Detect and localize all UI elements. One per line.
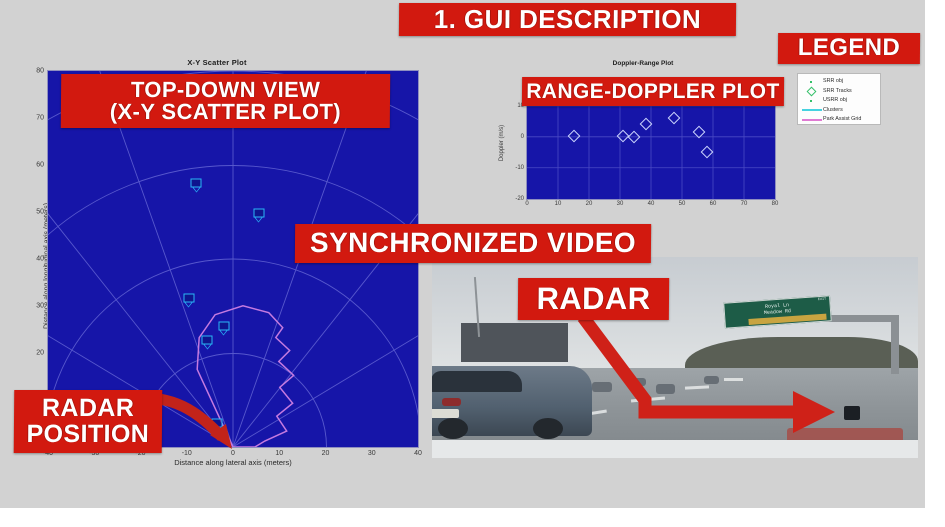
xy-xtick: 20 [322,450,330,457]
video-distant-vehicle [704,376,719,384]
radar-position-banner: RADAR POSITION [14,390,163,453]
video-lane-marking [724,378,743,381]
legend-item-label: SRR obj [823,77,843,86]
legend-item-label: SRR Tracks [823,87,852,96]
xy-ytick: 70 [36,115,44,122]
usrr-obj-dot-icon [801,96,823,105]
dr-xtick: 50 [679,201,686,207]
range-doppler-banner: RANGE-DOPPLER PLOT [522,77,784,106]
xy-ytick: 20 [36,350,44,357]
doppler-range-title: Doppler-Range Plot [497,60,789,67]
park-assist-grid-line-icon [801,115,823,124]
xy-scatter-title: X-Y Scatter Plot [8,58,426,67]
video-distant-vehicle [631,378,646,386]
legend-banner: LEGEND [778,33,920,64]
srr-obj-dot-icon [801,77,823,86]
video-sign-gantry-post [891,315,899,373]
track-marker [202,336,213,347]
doppler-range-ylabel: Doppler (m/s) [499,125,505,161]
xy-xtick: 30 [368,450,376,457]
xy-ytick: 40 [36,256,44,263]
dr-xtick: 80 [772,201,779,207]
xy-xtick: 0 [231,450,235,457]
radar-banner: RADAR [518,278,669,320]
synchronized-video-panel: EXIT Royal Ln Meadow Rd [432,257,918,458]
dr-ytick: -20 [515,196,524,202]
video-distant-vehicle [592,382,611,392]
dr-xtick: 20 [586,201,593,207]
xy-ytick: 60 [36,162,44,169]
track-marker [191,178,202,189]
clusters-line-icon [801,106,823,115]
doppler-range-axes: 10 0 -10 -20 0 10 20 30 40 50 60 70 80 [526,96,776,200]
range-doppler-banner-text: RANGE-DOPPLER PLOT [522,81,784,102]
xy-scatter-xlabel: Distance along lateral axis (meters) [47,458,419,467]
xy-xtick: 10 [275,450,283,457]
xy-ytick: 30 [36,303,44,310]
legend-item-park-assist-grid: Park Assist Grid [801,115,877,125]
legend-item-srr-tracks: SRR Tracks [801,87,877,97]
title-banner-text: 1. GUI DESCRIPTION [399,6,736,33]
legend-item-label: Park Assist Grid [823,115,861,124]
title-banner: 1. GUI DESCRIPTION [399,3,736,36]
xy-xtick: -10 [182,450,192,457]
synchronized-video-banner: SYNCHRONIZED VIDEO [295,224,651,263]
doppler-grid [527,97,775,199]
dr-ytick: 0 [521,134,524,140]
screenshot-root: X-Y Scatter Plot Distance along longitud… [0,0,945,527]
xy-ytick: 80 [36,68,44,75]
xy-ytick: 50 [36,209,44,216]
video-car-wheel [533,418,563,439]
track-marker [183,293,194,304]
video-car-window [432,371,522,392]
legend-box: SRR obj SRR Tracks USRR obj Clusters Par… [797,73,881,125]
xy-xtick: 40 [414,450,422,457]
legend-banner-text: LEGEND [778,36,920,60]
legend-item-srr-obj: SRR obj [801,77,877,87]
radar-device [844,406,860,420]
dr-xtick: 70 [741,201,748,207]
video-distant-vehicle [656,384,675,394]
legend-item-label: USRR obj [823,96,847,105]
dr-xtick: 30 [617,201,624,207]
dr-xtick: 10 [555,201,562,207]
dr-xtick: 40 [648,201,655,207]
synchronized-video-banner-text: SYNCHRONIZED VIDEO [295,229,651,258]
top-down-view-banner-text: TOP-DOWN VIEW (X-Y SCATTER PLOT) [61,79,390,124]
video-car-hood [432,440,918,458]
radar-position-banner-text: RADAR POSITION [14,396,162,447]
road-sign-exit-label: EXIT [817,298,825,303]
srr-tracks-diamond-icon [801,87,823,96]
legend-item-clusters: Clusters [801,106,877,116]
legend-item-usrr-obj: USRR obj [801,96,877,106]
dr-xtick: 0 [525,201,528,207]
dr-xtick: 60 [710,201,717,207]
video-car-plate [432,409,459,418]
track-marker [218,322,229,333]
legend-item-label: Clusters [823,106,843,115]
radar-banner-text: RADAR [518,283,669,315]
track-marker [253,209,264,220]
top-down-view-banner: TOP-DOWN VIEW (X-Y SCATTER PLOT) [61,74,390,128]
video-foreground-car [432,366,592,436]
video-car-taillight [442,398,461,406]
track-marker [211,418,222,429]
dr-ytick: -10 [515,165,524,171]
